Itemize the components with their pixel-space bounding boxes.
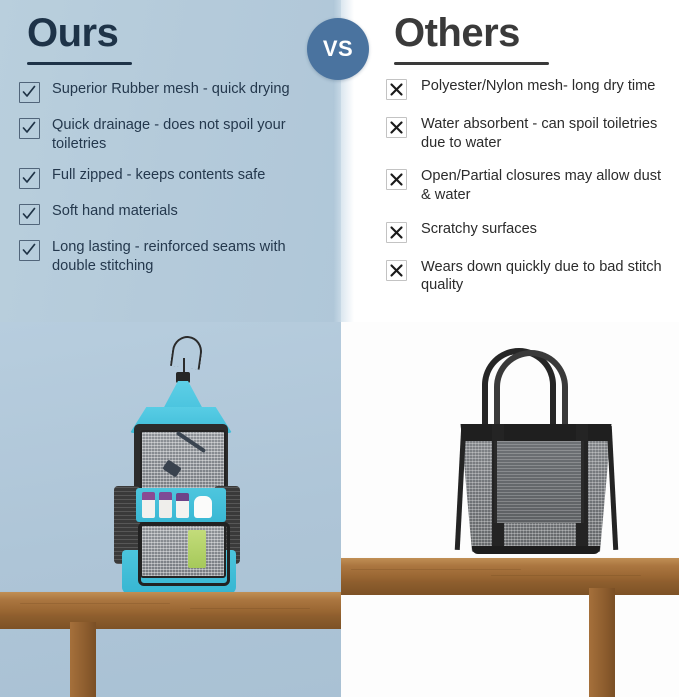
others-product-photo xyxy=(341,322,679,697)
list-item-label: Scratchy surfaces xyxy=(421,220,537,239)
list-item: Long lasting - reinforced seams with dou… xyxy=(19,238,329,275)
list-item: Wears down quickly due to bad stitch qua… xyxy=(386,258,671,295)
hanger-hook-icon xyxy=(170,334,204,370)
list-item: Scratchy surfaces xyxy=(386,220,671,243)
tote-side-seam-right xyxy=(607,426,618,550)
ours-heading-underline xyxy=(27,62,132,65)
ours-product-photo xyxy=(0,322,341,697)
mesh-tote-bag xyxy=(436,348,636,558)
tote-bottom xyxy=(472,546,600,554)
ours-header: Ours xyxy=(27,13,132,65)
bench-leg xyxy=(589,588,615,697)
toiletry-bottle xyxy=(176,493,189,518)
list-item-label: Water absorbent - can spoil toiletries d… xyxy=(421,115,671,152)
list-item-label: Quick drainage - does not spoil your toi… xyxy=(52,116,329,153)
tote-handle-right xyxy=(494,350,568,428)
check-icon xyxy=(19,240,40,261)
cross-icon xyxy=(386,260,407,281)
others-heading: Others xyxy=(394,13,549,53)
wood-grain xyxy=(351,569,521,570)
toiletry-bottle xyxy=(159,492,172,518)
bench-top xyxy=(341,558,679,584)
wood-grain xyxy=(20,603,170,604)
list-item: Water absorbent - can spoil toiletries d… xyxy=(386,115,671,152)
tote-front-pocket xyxy=(494,441,584,523)
tote-side-seam-left xyxy=(455,426,466,550)
list-item: Soft hand materials xyxy=(19,202,329,225)
list-item-label: Full zipped - keeps contents safe xyxy=(52,166,265,185)
bottle-cap xyxy=(142,492,155,500)
wood-grain xyxy=(190,608,310,609)
bag-middle-pocket xyxy=(136,488,226,522)
tote-top-rim xyxy=(454,424,618,441)
list-item-label: Wears down quickly due to bad stitch qua… xyxy=(421,258,671,295)
bench-edge xyxy=(0,616,341,629)
cross-icon xyxy=(386,79,407,100)
list-item: Quick drainage - does not spoil your toi… xyxy=(19,116,329,153)
others-header: Others xyxy=(394,13,549,65)
vs-label: VS xyxy=(323,36,353,62)
check-icon xyxy=(19,168,40,189)
list-item-label: Polyester/Nylon mesh- long dry time xyxy=(421,77,655,96)
list-item: Open/Partial closures may allow dust & w… xyxy=(386,167,671,204)
bottle-cap xyxy=(176,493,189,501)
list-item-label: Open/Partial closures may allow dust & w… xyxy=(421,167,671,204)
ours-heading: Ours xyxy=(27,13,132,53)
list-item-label: Long lasting - reinforced seams with dou… xyxy=(52,238,329,275)
bench-top xyxy=(0,592,341,618)
hanging-toiletry-bag xyxy=(112,336,242,626)
ours-feature-list: Superior Rubber mesh - quick drying Quic… xyxy=(19,80,329,289)
bag-neck xyxy=(162,381,204,411)
toiletry-bottle xyxy=(194,496,212,518)
vs-badge: VS xyxy=(307,18,369,80)
cross-icon xyxy=(386,117,407,138)
check-icon xyxy=(19,204,40,225)
list-item: Full zipped - keeps contents safe xyxy=(19,166,329,189)
others-heading-underline xyxy=(394,62,549,65)
list-item-label: Soft hand materials xyxy=(52,202,178,221)
mesh-panel-upper xyxy=(140,430,226,496)
toiletry-bottle xyxy=(142,492,155,518)
list-item: Polyester/Nylon mesh- long dry time xyxy=(386,77,671,100)
others-feature-list: Polyester/Nylon mesh- long dry time Wate… xyxy=(386,77,671,310)
bottle-cap xyxy=(159,492,172,500)
cross-icon xyxy=(386,222,407,243)
bench-leg xyxy=(70,622,96,697)
wood-grain xyxy=(491,575,641,576)
bench-edge xyxy=(341,582,679,595)
list-item: Superior Rubber mesh - quick drying xyxy=(19,80,329,103)
comparison-infographic: Ours Others VS Superior Rubber mesh - qu… xyxy=(0,0,679,697)
list-item-label: Superior Rubber mesh - quick drying xyxy=(52,80,290,99)
check-icon xyxy=(19,118,40,139)
cross-icon xyxy=(386,169,407,190)
bag-front-pocket-trim xyxy=(138,522,230,586)
check-icon xyxy=(19,82,40,103)
